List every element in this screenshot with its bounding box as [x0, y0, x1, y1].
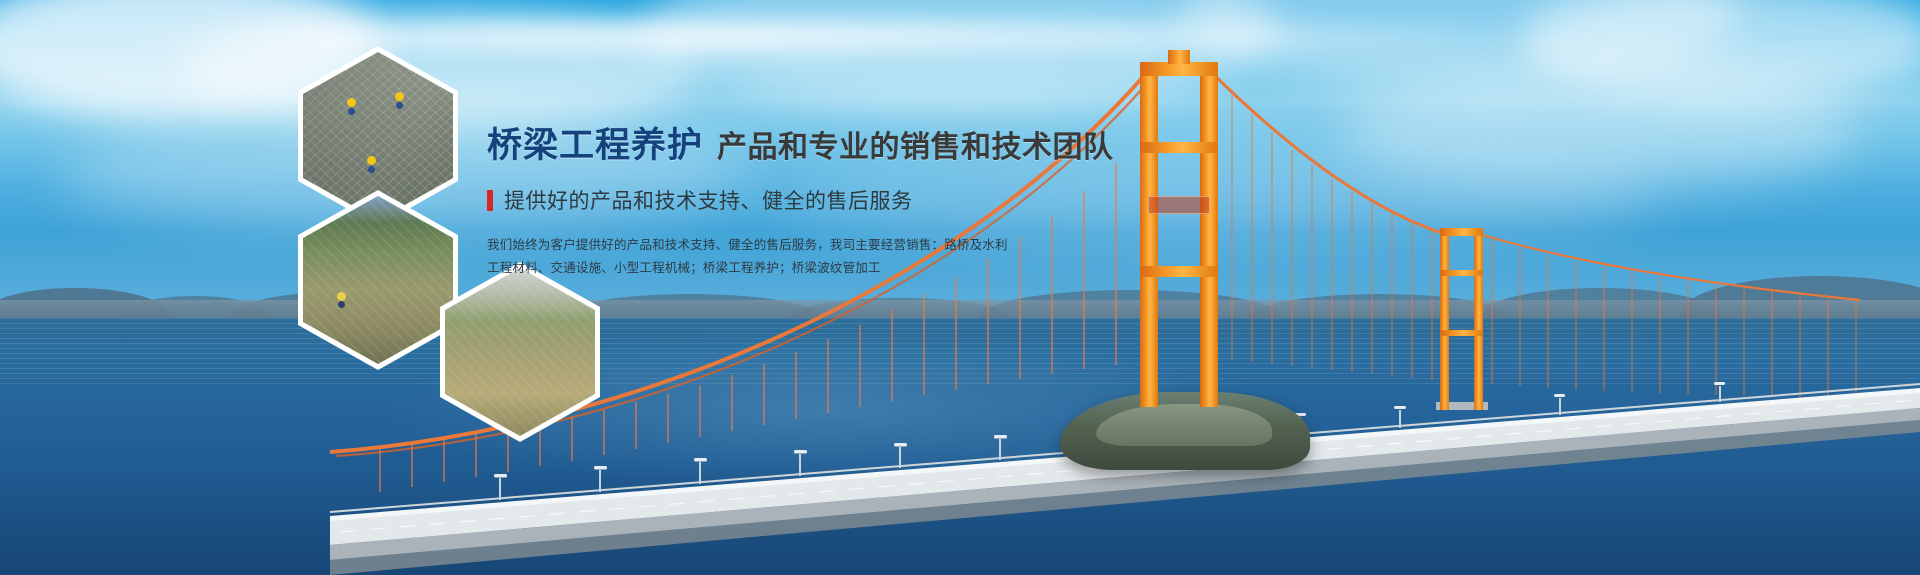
banner-body-text: 我们始终为客户提供好的产品和技术支持、健全的售后服务，我司主要经营销售：路桥及水… — [487, 234, 887, 280]
hero-banner: 桥梁工程养护产品和专业的销售和技术团队 提供好的产品和技术支持、健全的售后服务 … — [0, 0, 1920, 575]
banner-subheadline: 提供好的产品和技术支持、健全的售后服务 — [487, 185, 1127, 215]
body-line-1: 我们始终为客户提供好的产品和技术支持、健全的售后服务，我司主要经营销售：路桥及水… — [487, 234, 887, 257]
bridge-tower-main-left-leg — [1140, 62, 1158, 407]
subheadline-text: 提供好的产品和技术支持、健全的售后服务 — [504, 185, 913, 215]
banner-text-block: 桥梁工程养护产品和专业的销售和技术团队 提供好的产品和技术支持、健全的售后服务 … — [487, 128, 1127, 280]
suspension-bridge — [0, 0, 1920, 575]
bridge-tower-main-cap — [1168, 50, 1190, 64]
bridge-tower-sign — [1148, 196, 1210, 214]
headline-secondary: 产品和专业的销售和技术团队 — [717, 131, 1114, 164]
bridge-tower-far-right-leg — [1474, 228, 1483, 410]
bridge-tower-main-right-leg — [1200, 62, 1218, 407]
worker-figure — [367, 156, 376, 165]
bridge-tower-far-left-leg — [1440, 228, 1449, 410]
bridge-cables-svg — [0, 0, 1920, 575]
bridge-tower-main-crossbeam-lower — [1140, 266, 1218, 277]
bridge-tower-far-crossbeam-upper — [1440, 270, 1483, 276]
accent-bar — [487, 190, 493, 211]
worker-figure — [337, 292, 346, 301]
worker-figure — [395, 92, 404, 101]
bridge-tower-far-crossbeam-lower — [1440, 330, 1483, 336]
bridge-tower-main-crossbeam-top — [1140, 62, 1218, 76]
worker-figure — [347, 98, 356, 107]
bridge-tower-far-crossbeam-top — [1440, 228, 1483, 236]
banner-headline: 桥梁工程养护产品和专业的销售和技术团队 — [487, 128, 1127, 163]
body-line-2: 工程材料、交通设施、小型工程机械；桥梁工程养护；桥梁波纹管加工 — [487, 257, 887, 280]
headline-primary: 桥梁工程养护 — [487, 126, 703, 165]
bridge-tower-main-crossbeam-upper — [1140, 142, 1218, 153]
